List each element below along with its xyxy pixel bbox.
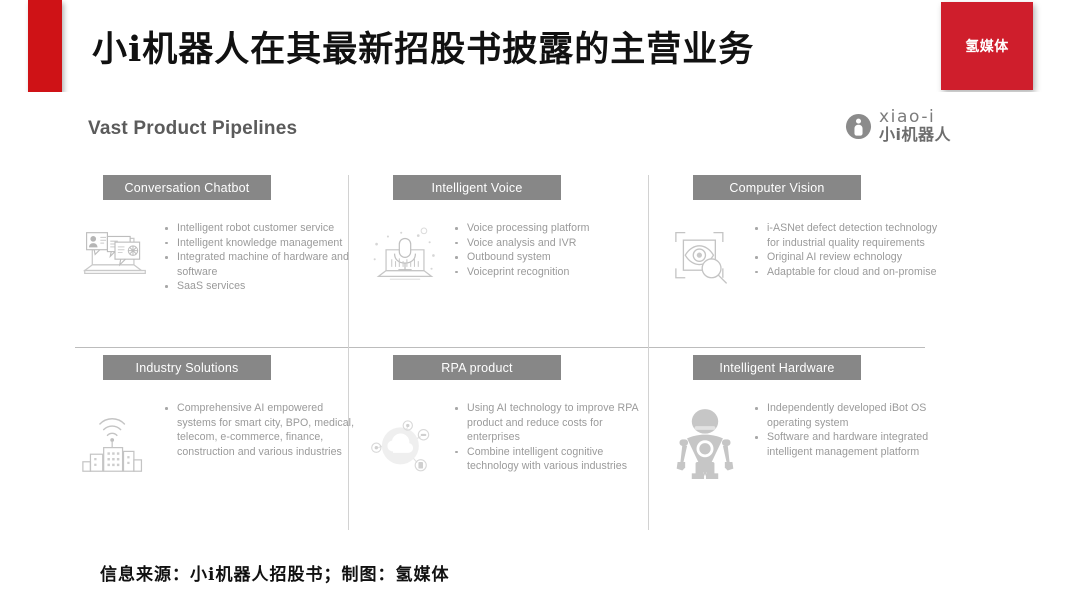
- laptop-microphone-icon: [365, 221, 445, 284]
- xiaoi-logo-text: xiao-i 小i机器人: [879, 109, 951, 143]
- cell-title-pill: Industry Solutions: [103, 355, 271, 380]
- grid-horizontal-divider: [75, 347, 925, 348]
- list-item: Software and hardware integrated intelli…: [749, 430, 948, 459]
- cell-body: i-ASNet defect detection technology for …: [665, 221, 948, 289]
- eye-scan-magnifier-icon: [665, 221, 745, 289]
- xiaoi-logo: xiao-i 小i机器人: [845, 104, 995, 148]
- pipeline-cell-industry-solutions: Industry Solutions: [75, 355, 358, 535]
- person-in-circle-icon: [845, 113, 872, 140]
- header-accent-bar: [28, 0, 62, 92]
- list-item: Independently developed iBot OS operatin…: [749, 401, 948, 430]
- cell-body: Comprehensive AI empowered systems for s…: [75, 401, 358, 475]
- list-item: Voice analysis and IVR: [449, 236, 648, 251]
- list-item: Using AI technology to improve RPA produ…: [449, 401, 648, 445]
- cell-bullet-list: Voice processing platform Voice analysis…: [449, 221, 648, 284]
- robot-icon: [665, 401, 745, 483]
- cell-bullet-list: Comprehensive AI empowered systems for s…: [159, 401, 358, 475]
- laptop-chat-bubbles-icon: [75, 221, 155, 294]
- brand-badge: 氢媒体: [941, 2, 1033, 90]
- cell-title-pill: Intelligent Voice: [393, 175, 561, 200]
- cell-title: RPA product: [441, 361, 512, 375]
- cell-bullet-list: Using AI technology to improve RPA produ…: [449, 401, 648, 481]
- cell-title: Intelligent Voice: [432, 181, 523, 195]
- xiaoi-logo-english: xiao-i: [879, 109, 951, 126]
- cell-body: Independently developed iBot OS operatin…: [665, 401, 948, 483]
- grid-vertical-divider-2: [648, 175, 649, 530]
- cell-title-pill: Intelligent Hardware: [693, 355, 861, 380]
- product-pipeline-grid: Conversation Chatbot: [75, 175, 925, 530]
- list-item: Intelligent robot customer service: [159, 221, 358, 236]
- list-item: Voice processing platform: [449, 221, 648, 236]
- list-item: Integrated machine of hardware and softw…: [159, 250, 358, 279]
- cell-body: Voice processing platform Voice analysis…: [365, 221, 648, 284]
- xiaoi-logo-chinese: 小i机器人: [879, 127, 951, 143]
- list-item: Comprehensive AI empowered systems for s…: [159, 401, 358, 459]
- pipeline-cell-intelligent-hardware: Intelligent Hardware: [665, 355, 948, 535]
- cell-title: Computer Vision: [729, 181, 824, 195]
- list-item: i-ASNet defect detection technology for …: [749, 221, 948, 250]
- list-item: Adaptable for cloud and on-promise: [749, 265, 948, 280]
- section-title: Vast Product Pipelines: [88, 118, 297, 140]
- pipeline-cell-intelligent-voice: Intelligent Voice: [365, 175, 648, 345]
- slide-header: 小i机器人在其最新招股书披露的主营业务 氢媒体: [0, 0, 1080, 92]
- brand-badge-label: 氢媒体: [965, 36, 1009, 56]
- list-item: SaaS services: [159, 279, 358, 294]
- pipeline-cell-computer-vision: Computer Vision: [665, 175, 948, 345]
- list-item: Voiceprint recognition: [449, 265, 648, 280]
- cell-title-pill: RPA product: [393, 355, 561, 380]
- page-title: 小i机器人在其最新招股书披露的主营业务: [92, 8, 882, 84]
- pipeline-cell-rpa-product: RPA product: [365, 355, 648, 535]
- cell-title-pill: Conversation Chatbot: [103, 175, 271, 200]
- cell-bullet-list: Intelligent robot customer service Intel…: [159, 221, 358, 294]
- cell-body: Intelligent robot customer service Intel…: [75, 221, 358, 294]
- cell-title: Industry Solutions: [136, 361, 239, 375]
- cell-title-pill: Computer Vision: [693, 175, 861, 200]
- list-item: Outbound system: [449, 250, 648, 265]
- cell-bullet-list: Independently developed iBot OS operatin…: [749, 401, 948, 483]
- pipeline-cell-conversation-chatbot: Conversation Chatbot: [75, 175, 358, 345]
- slide-root: 小i机器人在其最新招股书披露的主营业务 氢媒体 Vast Product Pip…: [0, 0, 1080, 608]
- cell-title: Conversation Chatbot: [125, 181, 250, 195]
- cloud-nodes-icon: [365, 401, 445, 481]
- cell-bullet-list: i-ASNet defect detection technology for …: [749, 221, 948, 289]
- list-item: Original AI review echnology: [749, 250, 948, 265]
- list-item: Combine intelligent cognitive technology…: [449, 445, 648, 474]
- smart-city-wifi-icon: [75, 401, 155, 475]
- list-item: Intelligent knowledge management: [159, 236, 358, 251]
- source-footer: 信息来源：小i机器人招股书；制图：氢媒体: [100, 560, 449, 585]
- cell-body: Using AI technology to improve RPA produ…: [365, 401, 648, 481]
- cell-title: Intelligent Hardware: [719, 361, 834, 375]
